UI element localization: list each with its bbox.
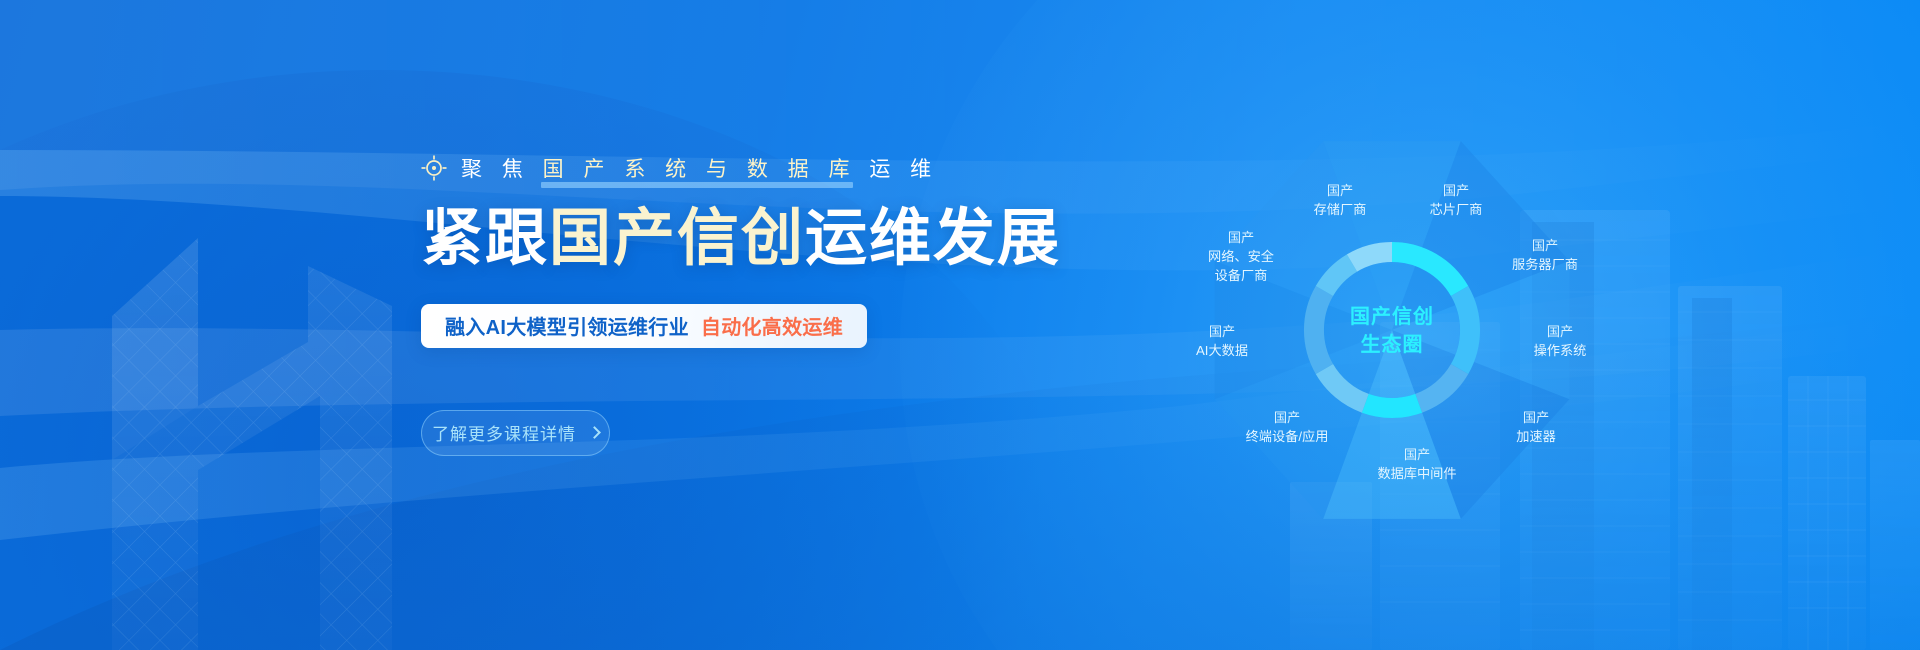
eyebrow-trail: 运 维 bbox=[857, 158, 939, 181]
promo-banner: 聚 焦 国 产 系 统 与 数 据 库 运 维 紧跟国产信创运维发展 融入AI大… bbox=[0, 0, 1920, 650]
ecosystem-node-line2: 网络、安全 bbox=[1208, 248, 1274, 264]
ecosystem-diagram: 国产信创 生态圈 国产 芯片厂商 国产 服务器厂商 国产 操作系统 国产 加速器… bbox=[1132, 92, 1652, 562]
ecosystem-node-line2: 加速器 bbox=[1516, 429, 1556, 444]
ecosystem-node-line1: 国产 bbox=[1209, 324, 1235, 339]
headline-part-1: 紧跟 bbox=[421, 204, 549, 273]
ecosystem-node-line1: 国产 bbox=[1327, 183, 1353, 198]
ecosystem-node-line1: 国产 bbox=[1532, 238, 1558, 253]
headline-part-2: 国产信创 bbox=[549, 204, 805, 273]
ecosystem-node-line1: 国产 bbox=[1404, 447, 1430, 462]
ecosystem-node-line1: 国产 bbox=[1443, 183, 1469, 198]
tagline-primary: 融入AI大模型引领运维行业 bbox=[445, 311, 689, 340]
ecosystem-node-line2: 操作系统 bbox=[1534, 343, 1587, 358]
ecosystem-node-line1: 国产 bbox=[1523, 410, 1549, 425]
tagline-accent: 自动化高效运维 bbox=[701, 311, 843, 340]
ecosystem-node-line2: 芯片厂商 bbox=[1430, 202, 1483, 217]
ecosystem-center-line2: 生态圈 bbox=[1361, 332, 1424, 356]
headline-part-3: 运维发展 bbox=[805, 204, 1061, 273]
eyebrow-line: 聚 焦 国 产 系 统 与 数 据 库 运 维 bbox=[421, 148, 1121, 188]
learn-more-button[interactable]: 了解更多课程详情 bbox=[421, 410, 610, 456]
chevron-right-icon bbox=[588, 426, 601, 439]
ecosystem-node-line2: 服务器厂商 bbox=[1512, 257, 1578, 272]
ecosystem-node-line1: 国产 bbox=[1228, 230, 1254, 245]
learn-more-label: 了解更多课程详情 bbox=[432, 420, 576, 445]
eyebrow-text: 聚 焦 国 产 系 统 与 数 据 库 运 维 bbox=[461, 153, 938, 183]
crosshair-target-icon bbox=[421, 155, 447, 181]
tagline-pill: 融入AI大模型引领运维行业 自动化高效运维 bbox=[421, 304, 867, 348]
ecosystem-center-line1: 国产信创 bbox=[1350, 304, 1434, 328]
ecosystem-node-line1: 国产 bbox=[1547, 324, 1573, 339]
ecosystem-node-line2: 存储厂商 bbox=[1314, 202, 1367, 217]
ecosystem-node-line3: 设备厂商 bbox=[1215, 267, 1268, 283]
banner-copy-block: 聚 焦 国 产 系 统 与 数 据 库 运 维 紧跟国产信创运维发展 融入AI大… bbox=[421, 148, 1121, 456]
ecosystem-wheel-svg: 国产信创 生态圈 国产 芯片厂商 国产 服务器厂商 国产 操作系统 国产 加速器… bbox=[1132, 92, 1652, 562]
ecosystem-node-line2: 终端设备/应用 bbox=[1246, 428, 1329, 444]
page-title: 紧跟国产信创运维发展 bbox=[421, 206, 1121, 272]
ecosystem-node-line2: AI大数据 bbox=[1196, 343, 1248, 358]
ecosystem-node-line1: 国产 bbox=[1274, 410, 1300, 425]
eyebrow-highlight: 国 产 系 统 与 数 据 库 bbox=[543, 158, 857, 181]
ecosystem-node-line2: 数据库中间件 bbox=[1377, 466, 1456, 481]
eyebrow-lead: 聚 焦 bbox=[461, 158, 543, 181]
